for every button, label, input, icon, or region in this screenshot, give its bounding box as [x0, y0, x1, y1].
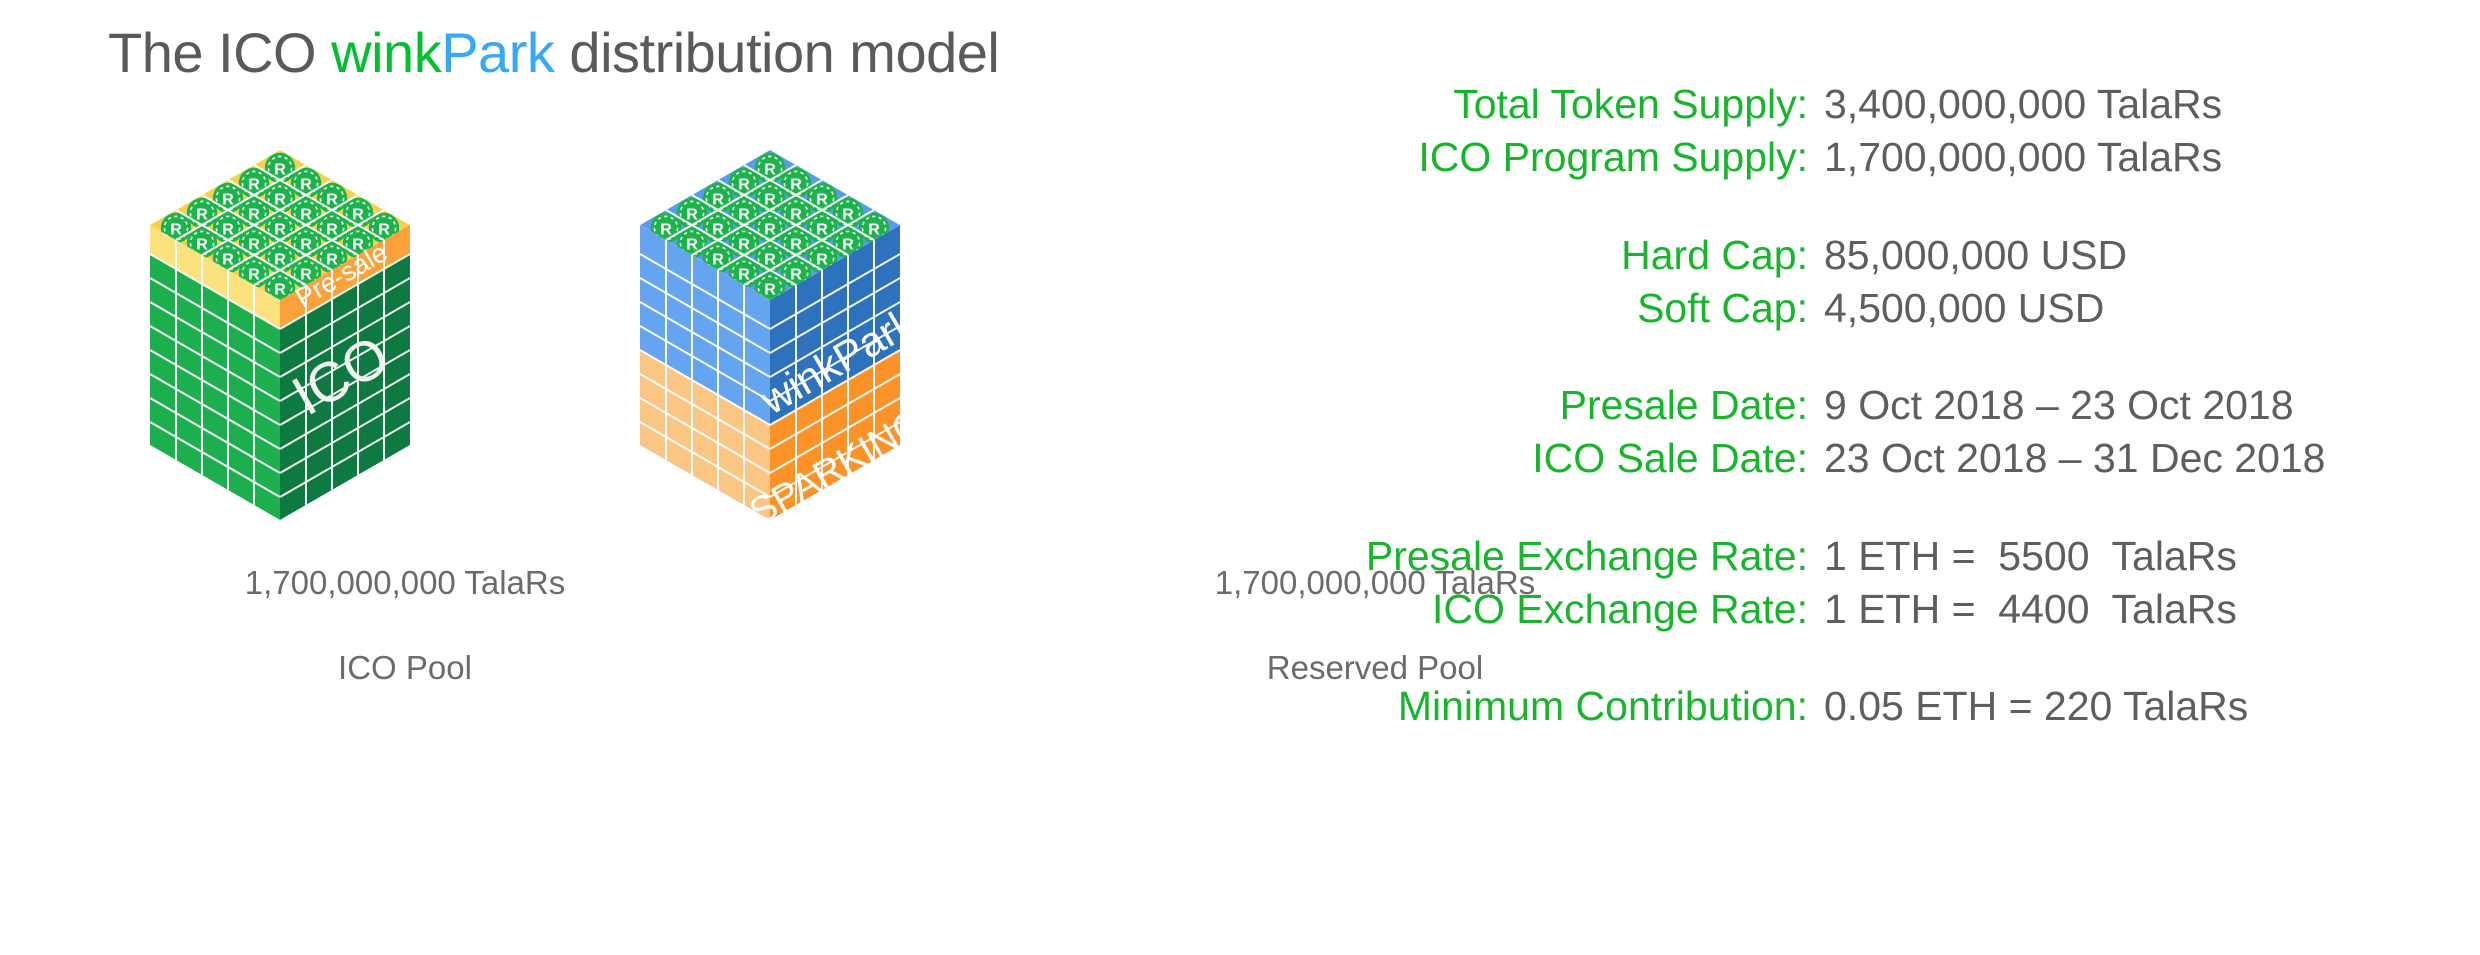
cap-group: Hard Cap: 85,000,000 USD Soft Cap: 4,500… [1190, 229, 2470, 336]
ico-sale-date-value: 23 Oct 2018 – 31 Dec 2018 [1824, 432, 2325, 485]
ico-exchange-rate-label: ICO Exchange Rate: [1190, 583, 1824, 636]
total-token-supply-label: Total Token Supply: [1190, 78, 1824, 131]
data-row: Total Token Supply: 3,400,000,000 TalaRs [1190, 78, 2470, 131]
soft-cap-value: 4,500,000 USD [1824, 282, 2104, 335]
data-row: Presale Date: 9 Oct 2018 – 23 Oct 2018 [1190, 379, 2470, 432]
cube-ico-caption-name: ICO Pool [195, 647, 615, 689]
cube-ico-graphic: R [150, 130, 550, 530]
cube-ico-pool: R [150, 130, 550, 530]
presale-date-value: 9 Oct 2018 – 23 Oct 2018 [1824, 379, 2294, 432]
data-row: ICO Sale Date: 23 Oct 2018 – 31 Dec 2018 [1190, 432, 2470, 485]
soft-cap-label: Soft Cap: [1190, 282, 1824, 335]
hard-cap-value: 85,000,000 USD [1824, 229, 2127, 282]
supply-group: Total Token Supply: 3,400,000,000 TalaRs… [1190, 78, 2470, 185]
brand-wink: wink [331, 21, 441, 84]
page-title-suffix: distribution model [554, 21, 999, 84]
data-row: Soft Cap: 4,500,000 USD [1190, 282, 2470, 335]
page-title: The ICO winkPark distribution model [108, 20, 999, 85]
cube-reserved-pool: winkPark SPARKING 1,700,000,000 TalaRs R… [640, 130, 1040, 530]
data-row: Hard Cap: 85,000,000 USD [1190, 229, 2470, 282]
data-row: ICO Program Supply: 1,700,000,000 TalaRs [1190, 131, 2470, 184]
ico-parameters-panel: Total Token Supply: 3,400,000,000 TalaRs… [1190, 78, 2470, 734]
hard-cap-label: Hard Cap: [1190, 229, 1824, 282]
cube-ico-caption-amount: 1,700,000,000 TalaRs [195, 562, 615, 604]
ico-sale-date-label: ICO Sale Date: [1190, 432, 1824, 485]
exchange-rate-group: Presale Exchange Rate: 1 ETH = 5500 Tala… [1190, 530, 2470, 637]
presale-date-label: Presale Date: [1190, 379, 1824, 432]
minimum-contribution-value: 0.05 ETH = 220 TalaRs [1824, 680, 2248, 733]
page-title-prefix: The ICO [108, 21, 331, 84]
ico-program-supply-label: ICO Program Supply: [1190, 131, 1824, 184]
brand-park: Park [441, 21, 554, 84]
ico-program-supply-value: 1,700,000,000 TalaRs [1824, 131, 2222, 184]
presale-exchange-rate-label: Presale Exchange Rate: [1190, 530, 1824, 583]
total-token-supply-value: 3,400,000,000 TalaRs [1824, 78, 2222, 131]
dates-group: Presale Date: 9 Oct 2018 – 23 Oct 2018 I… [1190, 379, 2470, 486]
ico-exchange-rate-value: 1 ETH = 4400 TalaRs [1824, 583, 2237, 636]
data-row: ICO Exchange Rate: 1 ETH = 4400 TalaRs [1190, 583, 2470, 636]
minimum-contribution-group: Minimum Contribution: 0.05 ETH = 220 Tal… [1190, 680, 2470, 733]
presale-exchange-rate-value: 1 ETH = 5500 TalaRs [1824, 530, 2237, 583]
cube-ico-caption: 1,700,000,000 TalaRs ICO Pool [195, 520, 615, 731]
data-row: Presale Exchange Rate: 1 ETH = 5500 Tala… [1190, 530, 2470, 583]
minimum-contribution-label: Minimum Contribution: [1190, 680, 1824, 733]
token-distribution-diagram: R [0, 130, 1180, 930]
data-row: Minimum Contribution: 0.05 ETH = 220 Tal… [1190, 680, 2470, 733]
cube-reserved-graphic: winkPark SPARKING [640, 130, 1040, 530]
